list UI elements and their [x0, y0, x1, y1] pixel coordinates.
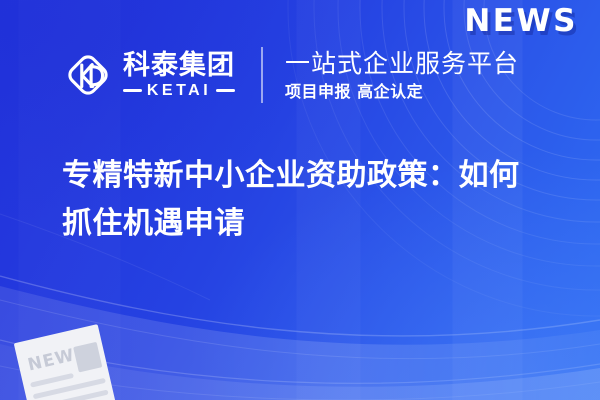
brand-logo-text: 科泰集团 KETAI: [123, 51, 235, 99]
ketai-diamond-kd-logo-icon: [62, 49, 114, 101]
logo-dash-left: [123, 89, 142, 92]
brand-logo[interactable]: 科泰集团 KETAI: [62, 49, 235, 101]
news-wordmark: NEWS: [464, 4, 578, 38]
headline-line-1: 专精特新中小企业资助政策：如何: [62, 152, 562, 200]
brand-name-en: KETAI: [147, 82, 211, 99]
headline: 专精特新中小企业资助政策：如何 抓住机遇申请: [62, 152, 562, 248]
logo-dash-right: [216, 89, 235, 92]
headline-line-2: 抓住机遇申请: [62, 200, 562, 248]
tagline-main: 一站式企业服务平台: [285, 48, 519, 79]
brand-name-cn: 科泰集团: [123, 51, 235, 80]
newspaper-icon: NEWS: [8, 316, 128, 400]
news-banner: NEWS 科泰集团 KETAI: [0, 0, 600, 400]
banner-header: 科泰集团 KETAI 一站式企业服务平台 项目申报 高企认定: [0, 36, 600, 114]
tagline-sub: 项目申报 高企认定: [285, 81, 519, 103]
header-divider: [261, 47, 263, 103]
tagline-block: 一站式企业服务平台 项目申报 高企认定: [285, 48, 519, 103]
brand-name-en-row: KETAI: [123, 82, 235, 99]
